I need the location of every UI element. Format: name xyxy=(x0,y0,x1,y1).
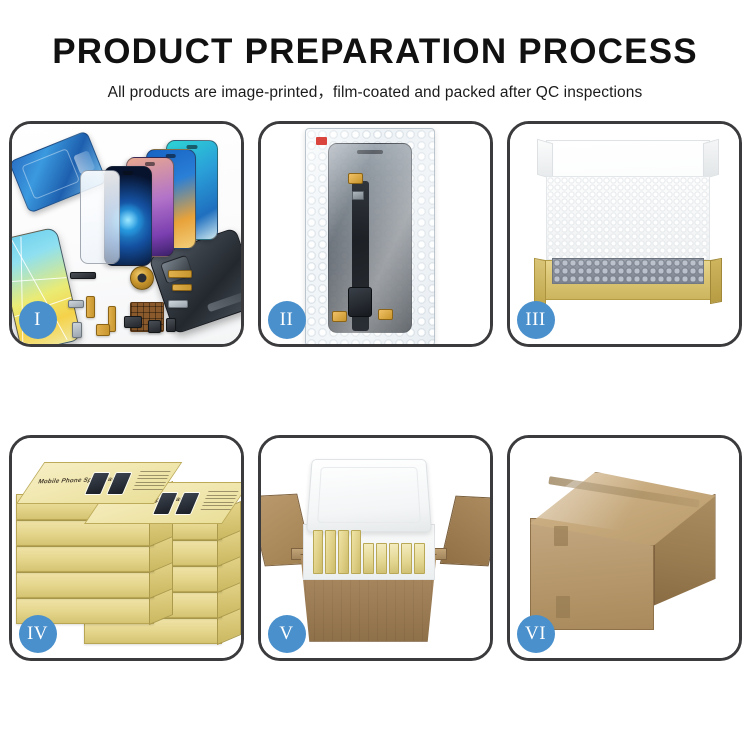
glass-protector-graphic xyxy=(80,170,120,264)
step-badge-2: II xyxy=(268,301,306,339)
small-part-bracket-a xyxy=(68,300,84,308)
small-part-flex-cable-b xyxy=(172,284,192,291)
step-badge-3: III xyxy=(517,301,555,339)
page-header: PRODUCT PREPARATION PROCESS All products… xyxy=(0,0,750,102)
step-badge-2-label: II xyxy=(280,310,294,329)
small-part-flex-cable-c xyxy=(86,296,95,318)
page-subtitle: All products are image-printed，film-coat… xyxy=(0,80,750,102)
small-part-flex-cable-e xyxy=(96,324,110,336)
small-part-button xyxy=(166,318,176,332)
small-part-flex-cable-a xyxy=(168,270,192,278)
connector-block-graphic xyxy=(348,287,372,317)
process-step-panel-4[interactable]: Mobile Phone Spare Parts Mobile Phone Sp… xyxy=(9,435,244,661)
step-badge-1: I xyxy=(19,301,57,339)
step-badge-4-label: IV xyxy=(27,624,48,643)
small-part-camera-module xyxy=(124,316,142,328)
process-step-panel-3[interactable]: III xyxy=(507,121,742,347)
yellow-retail-boxes-graphic xyxy=(313,530,425,574)
small-part-speaker xyxy=(148,320,161,333)
white-foam-insert-lid-graphic xyxy=(306,459,432,532)
page-title: PRODUCT PREPARATION PROCESS xyxy=(0,34,750,71)
process-step-panel-6[interactable]: VI xyxy=(507,435,742,661)
bubble-wrap-filling-graphic xyxy=(552,258,704,284)
small-part-bracket-b xyxy=(168,300,188,308)
process-step-panel-2[interactable]: II xyxy=(258,121,493,347)
step-badge-5-label: V xyxy=(279,624,293,643)
bubble-wrap-sheet-graphic xyxy=(305,128,435,346)
carton-handle-notch-top xyxy=(554,526,568,546)
step-badge-6-label: VI xyxy=(525,624,546,643)
step-badge-5: V xyxy=(268,615,306,653)
step-badge-4: IV xyxy=(19,615,57,653)
red-qc-label-graphic xyxy=(316,137,327,145)
sealed-carton-graphic xyxy=(526,466,726,634)
process-step-panel-1[interactable]: I xyxy=(9,121,244,347)
step-badge-6: VI xyxy=(517,615,555,653)
small-part-vibrator xyxy=(72,322,82,338)
step-badge-1-label: I xyxy=(34,310,41,329)
retail-box xyxy=(16,546,154,572)
step-badge-3-label: III xyxy=(525,310,545,329)
printed-lid-graphic: Mobile Phone Spare Parts xyxy=(16,462,182,504)
foam-sheet-graphic xyxy=(546,176,710,260)
copper-coil-graphic xyxy=(130,266,154,290)
gold-contact-tab-a xyxy=(348,173,363,184)
retail-box xyxy=(16,572,154,598)
process-step-grid: I II xyxy=(8,121,742,661)
gold-contact-tab-c xyxy=(378,309,393,320)
process-step-panel-5[interactable]: V xyxy=(258,435,493,661)
lcd-ic-chip xyxy=(352,191,364,200)
small-part-connector-a xyxy=(70,272,96,279)
carton-handle-notch-bottom xyxy=(556,596,570,618)
gold-contact-tab-b xyxy=(332,311,347,322)
